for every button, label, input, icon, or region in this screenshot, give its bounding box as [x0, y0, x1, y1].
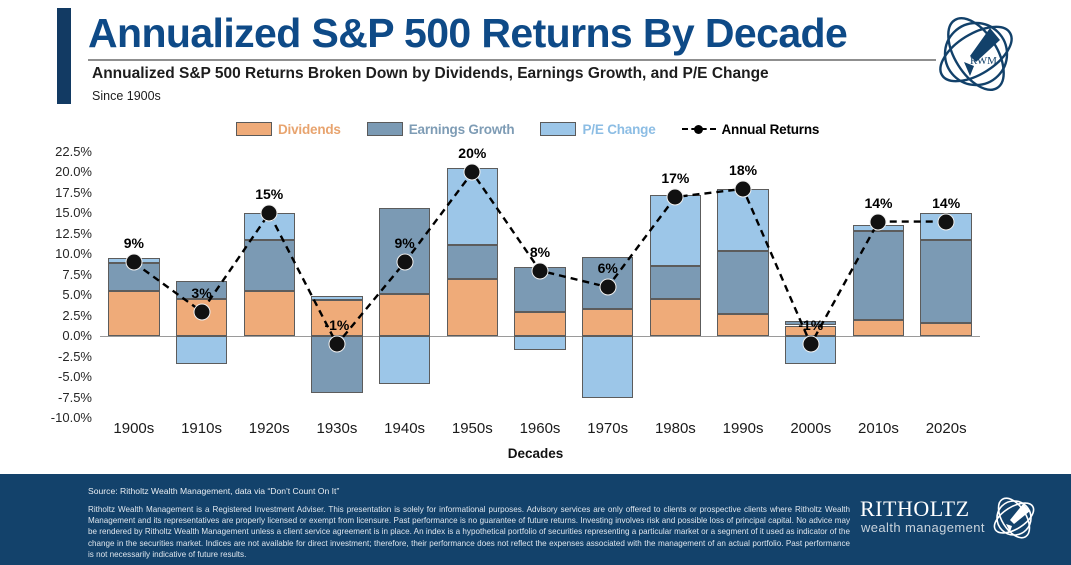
bar-segment-dividends[interactable]: [379, 294, 430, 336]
bar-segment-earnings-growth[interactable]: [244, 240, 295, 292]
rocket-orbit-icon: [985, 492, 1043, 544]
data-point-label: 20%: [458, 145, 486, 161]
bar-segment-earnings-growth[interactable]: [717, 251, 768, 314]
bar-segment-dividends[interactable]: [582, 309, 633, 336]
x-axis-tick-1930s: 1930s: [316, 420, 357, 437]
bar-segment-p-e-change[interactable]: [717, 189, 768, 251]
data-point-marker[interactable]: [125, 254, 142, 271]
data-point-marker[interactable]: [667, 189, 684, 206]
x-axis-tick-2020s: 2020s: [926, 420, 967, 437]
chart-legend: DividendsEarnings GrowthP/E ChangeAnnual…: [236, 119, 819, 139]
y-axis-tick-label: 12.5%: [2, 227, 92, 241]
legend-item-dividends[interactable]: Dividends: [236, 122, 341, 137]
legend-line-marker-icon: [682, 123, 716, 135]
y-axis-tick-label: 2.5%: [2, 309, 92, 323]
chart-page: Annualized S&P 500 Returns By Decade Ann…: [0, 0, 1071, 565]
x-axis-tick-1920s: 1920s: [249, 420, 290, 437]
x-axis-labels: 1900s1910s1920s1930s1940s1950s1960s1970s…: [100, 420, 980, 446]
data-point-marker[interactable]: [870, 213, 887, 230]
y-axis-tick-label: -5.0%: [2, 370, 92, 384]
legend-item-p-e-change[interactable]: P/E Change: [540, 122, 655, 137]
data-point-label: 18%: [729, 162, 757, 178]
footer-logo: RITHOLTZ wealth management: [860, 496, 1060, 546]
legend-swatch-icon: [367, 122, 403, 136]
bar-column-2020s[interactable]: [920, 140, 971, 425]
bar-column-1910s[interactable]: [176, 140, 227, 425]
legend-label: Annual Returns: [722, 122, 820, 137]
bar-segment-dividends[interactable]: [920, 323, 971, 336]
legend-label: Earnings Growth: [409, 122, 515, 137]
bar-segment-dividends[interactable]: [650, 299, 701, 336]
bar-segment-p-e-change[interactable]: [176, 336, 227, 364]
bar-column-1900s[interactable]: [108, 140, 159, 425]
data-point-marker[interactable]: [464, 164, 481, 181]
data-point-marker[interactable]: [735, 180, 752, 197]
bar-column-1940s[interactable]: [379, 140, 430, 425]
bar-column-1960s[interactable]: [514, 140, 565, 425]
legend-item-earnings-growth[interactable]: Earnings Growth: [367, 122, 515, 137]
legend-swatch-icon: [236, 122, 272, 136]
page-header: Annualized S&P 500 Returns By Decade Ann…: [0, 0, 1071, 112]
page-title: Annualized S&P 500 Returns By Decade: [88, 8, 938, 60]
x-axis-tick-1970s: 1970s: [587, 420, 628, 437]
y-axis-tick-label: 0.0%: [2, 329, 92, 343]
x-axis-tick-1900s: 1900s: [113, 420, 154, 437]
page-subtitle: Annualized S&P 500 Returns Broken Down b…: [92, 64, 962, 84]
bar-column-2010s[interactable]: [853, 140, 904, 425]
header-accent-bar: [57, 8, 71, 104]
data-point-marker[interactable]: [193, 303, 210, 320]
data-point-label: 17%: [661, 170, 689, 186]
y-axis-tick-label: 10.0%: [2, 247, 92, 261]
x-axis-tick-1940s: 1940s: [384, 420, 425, 437]
y-axis-tick-label: -2.5%: [2, 350, 92, 364]
y-axis-tick-label: -10.0%: [2, 411, 92, 425]
bar-segment-dividends[interactable]: [108, 291, 159, 336]
data-point-marker[interactable]: [802, 336, 819, 353]
legend-swatch-icon: [540, 122, 576, 136]
bar-segment-dividends[interactable]: [717, 314, 768, 336]
data-point-label: 3%: [191, 285, 211, 301]
bar-column-2000s[interactable]: [785, 140, 836, 425]
data-point-label: -1%: [798, 317, 823, 333]
x-axis-tick-1950s: 1950s: [452, 420, 493, 437]
plot-canvas: 9%3%15%-1%9%20%8%6%17%18%-1%14%14%: [100, 140, 980, 425]
bar-segment-p-e-change[interactable]: [514, 336, 565, 350]
x-axis-tick-1990s: 1990s: [723, 420, 764, 437]
bar-segment-earnings-growth[interactable]: [447, 245, 498, 279]
data-point-label: 14%: [932, 195, 960, 211]
plot-area: 22.5%20.0%17.5%15.0%12.5%10.0%7.5%5.0%2.…: [0, 140, 1071, 425]
bar-segment-dividends[interactable]: [447, 279, 498, 336]
footer-logo-name: RITHOLTZ: [860, 496, 970, 522]
data-point-label: 8%: [530, 244, 550, 260]
bar-segment-p-e-change[interactable]: [582, 336, 633, 398]
data-point-label: 14%: [864, 195, 892, 211]
bar-column-1930s[interactable]: [311, 140, 362, 425]
x-axis-title: Decades: [0, 446, 1071, 461]
bar-segment-dividends[interactable]: [244, 291, 295, 336]
y-axis-tick-label: 15.0%: [2, 206, 92, 220]
footer-logo-tagline: wealth management: [861, 520, 985, 535]
data-point-label: 6%: [598, 260, 618, 276]
data-point-marker[interactable]: [532, 262, 549, 279]
legend-label: P/E Change: [582, 122, 655, 137]
legend-item-annual-returns[interactable]: Annual Returns: [682, 122, 820, 137]
y-axis-tick-label: 22.5%: [2, 145, 92, 159]
title-divider: [88, 59, 936, 61]
page-since-label: Since 1900s: [92, 88, 392, 104]
x-axis-tick-1910s: 1910s: [181, 420, 222, 437]
bar-segment-earnings-growth[interactable]: [920, 240, 971, 323]
y-axis-tick-label: 7.5%: [2, 268, 92, 282]
data-point-marker[interactable]: [396, 254, 413, 271]
data-point-label: 9%: [124, 235, 144, 251]
x-axis-tick-2010s: 2010s: [858, 420, 899, 437]
data-point-marker[interactable]: [261, 205, 278, 222]
x-axis-tick-2000s: 2000s: [790, 420, 831, 437]
data-point-marker[interactable]: [599, 279, 616, 296]
y-axis-tick-label: 17.5%: [2, 186, 92, 200]
bar-column-1920s[interactable]: [244, 140, 295, 425]
legend-label: Dividends: [278, 122, 341, 137]
bar-segment-earnings-growth[interactable]: [650, 266, 701, 300]
y-axis-labels: 22.5%20.0%17.5%15.0%12.5%10.0%7.5%5.0%2.…: [0, 140, 92, 425]
data-point-marker[interactable]: [328, 336, 345, 353]
svg-text:RWM: RWM: [970, 55, 997, 67]
footer-source: Source: Ritholtz Wealth Management, data…: [88, 486, 848, 497]
bar-segment-p-e-change[interactable]: [311, 296, 362, 300]
x-axis-tick-1960s: 1960s: [520, 420, 561, 437]
footer-disclaimer: Ritholtz Wealth Management is a Register…: [88, 504, 850, 560]
y-axis-tick-label: -7.5%: [2, 391, 92, 405]
data-point-label: 9%: [394, 235, 414, 251]
bar-segment-earnings-growth[interactable]: [853, 231, 904, 320]
x-axis-tick-1980s: 1980s: [655, 420, 696, 437]
bar-segment-p-e-change[interactable]: [650, 195, 701, 265]
page-footer: Source: Ritholtz Wealth Management, data…: [0, 474, 1071, 565]
rocket-orbit-icon: RWM: [930, 4, 1022, 104]
data-point-marker[interactable]: [938, 213, 955, 230]
bar-segment-dividends[interactable]: [514, 312, 565, 337]
data-point-label: 15%: [255, 186, 283, 202]
y-axis-tick-label: 20.0%: [2, 165, 92, 179]
bar-segment-p-e-change[interactable]: [379, 336, 430, 384]
bar-segment-dividends[interactable]: [853, 320, 904, 336]
bar-column-1950s[interactable]: [447, 140, 498, 425]
data-point-label: -1%: [324, 317, 349, 333]
y-axis-tick-label: 5.0%: [2, 288, 92, 302]
